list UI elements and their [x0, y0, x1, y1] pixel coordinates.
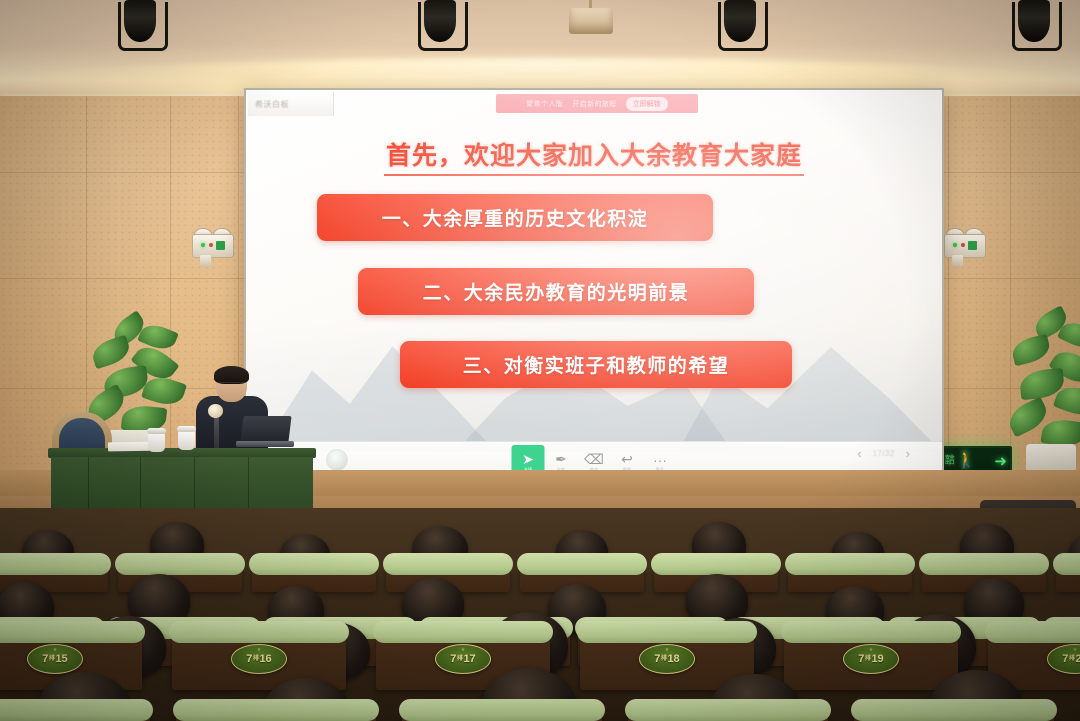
exit-sign-cn-bottom: 出口 — [945, 461, 954, 466]
prev-slide-icon[interactable]: ‹ — [857, 446, 861, 461]
promo-banner-text-left: 聚焦个人版 — [526, 99, 563, 109]
potted-plant-right — [1008, 312, 1080, 454]
slide-item-2[interactable]: 二、大余民办教育的光明前景 — [358, 268, 754, 315]
running-person-icon: 🚶 — [956, 453, 976, 469]
microphone-head — [208, 404, 223, 418]
auditorium-scene: 安全 出口 🚶 ➜ 希沃白板 — [0, 0, 1080, 721]
seat-badge-row: 7 — [42, 653, 48, 665]
promo-banner[interactable]: 聚焦个人版 开启新的旅程 立即解锁 — [496, 94, 698, 113]
teacup — [178, 430, 195, 450]
emergency-light-icon — [944, 228, 984, 258]
stage-spotlight — [118, 0, 162, 54]
slide-item-3[interactable]: 三、对衡实班子和教师的希望 — [400, 341, 792, 388]
microphone-stand — [214, 412, 219, 452]
slide-item-1[interactable]: 一、大余厚重的历史文化积淀 — [317, 194, 713, 241]
promo-banner-text-right: 开启新的旅程 — [572, 99, 616, 109]
slide-navigation: ‹ 17/32 › — [857, 446, 910, 461]
slide-brand-logo: 希沃白板 — [248, 92, 334, 116]
seat-badge: ★ 7排17 — [435, 644, 491, 674]
audience-seating: ★ 7排15 ★ 7排16 ★ 7排17 — [0, 508, 1080, 721]
seat-badge: ★ 7排20 — [1047, 644, 1080, 674]
laptop — [236, 416, 292, 448]
stage-spotlight — [418, 0, 462, 54]
seat-badge: ★ 7排18 — [639, 644, 695, 674]
emergency-light-icon — [192, 228, 232, 258]
brand-logo-text: 希沃白板 — [255, 99, 289, 110]
stage-spotlight — [718, 0, 762, 54]
slide-title: 首先，欢迎大家加入大余教育大家庭 — [246, 136, 942, 172]
seat-badge: ★ 7排15 — [27, 644, 83, 674]
seat-badge: ★ 7排16 — [231, 644, 287, 674]
glasses-icon — [218, 382, 245, 389]
stage-spotlight — [1012, 0, 1056, 54]
teacup — [148, 432, 165, 452]
arrow-right-icon: ➜ — [994, 454, 1007, 469]
promo-unlock-button[interactable]: 立即解锁 — [626, 97, 668, 111]
next-slide-icon[interactable]: › — [906, 446, 910, 461]
projection-screen-frame: 希沃白板 聚焦个人版 开启新的旅程 立即解锁 首先，欢迎大家加入大余教育大家庭 … — [244, 88, 944, 480]
user-avatar[interactable] — [326, 449, 348, 471]
seat-badge: ★ 7排19 — [843, 644, 899, 674]
projected-slide: 希沃白板 聚焦个人版 开启新的旅程 立即解锁 首先，欢迎大家加入大余教育大家庭 … — [246, 90, 942, 478]
slide-title-underline — [384, 174, 804, 176]
seat[interactable]: ★ 7排19 — [784, 630, 958, 690]
slide-page-indicator: 17/32 — [873, 449, 895, 458]
seat-badge-num: 15 — [55, 653, 67, 665]
ceiling-pendant-fixture — [565, 0, 617, 40]
